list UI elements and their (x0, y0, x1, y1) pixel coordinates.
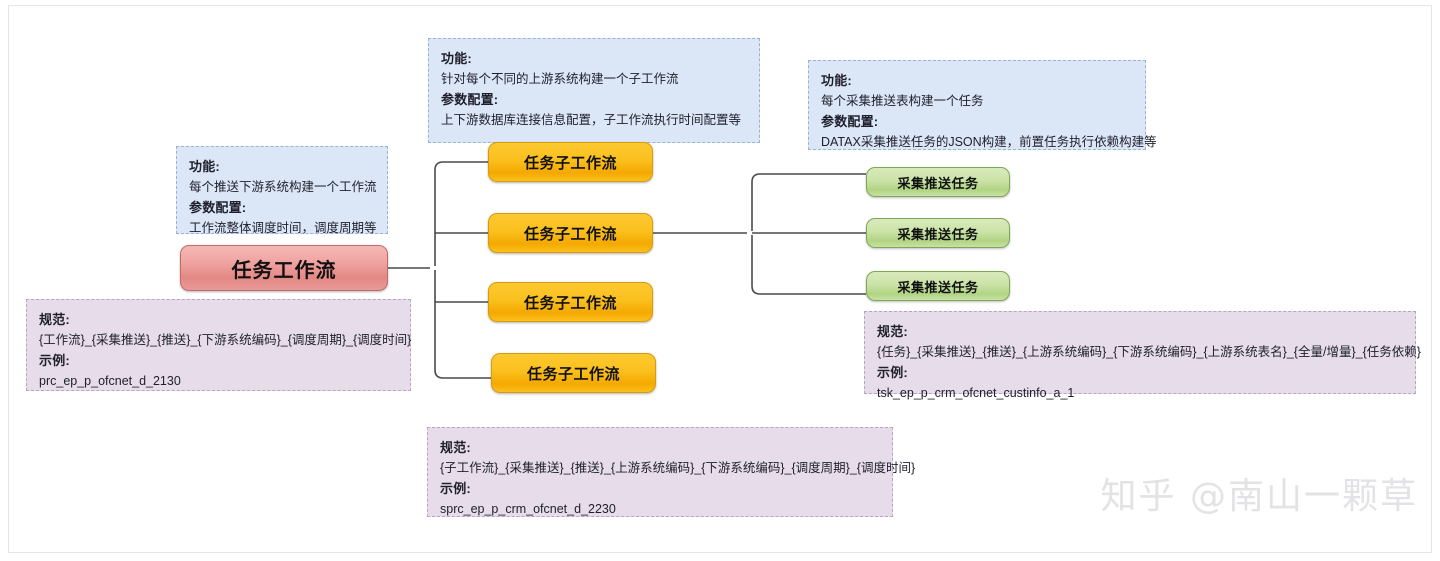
callout-subworkflow-function: 功能: 针对每个不同的上游系统构建一个子工作流 参数配置: 上下游数据库连接信息… (428, 38, 760, 143)
callout-spec-label: 规范: (440, 437, 880, 458)
diagram-canvas: 功能: 针对每个不同的上游系统构建一个子工作流 参数配置: 上下游数据库连接信息… (0, 0, 1440, 561)
node-collect-push-task-3[interactable]: 采集推送任务 (866, 271, 1010, 301)
callout-task-naming: 规范: {任务}_{采集推送}_{推送}_{上游系统编码}_{下游系统编码}_{… (864, 311, 1416, 394)
callout-function-text: 每个推送下游系统构建一个工作流 (189, 177, 375, 197)
node-task-workflow[interactable]: 任务工作流 (180, 245, 388, 291)
callout-example-label: 示例: (877, 362, 1403, 383)
callout-function-label: 功能: (189, 156, 375, 177)
callout-params-text: 工作流整体调度时间，调度周期等 (189, 218, 375, 238)
callout-spec-label: 规范: (877, 321, 1403, 342)
node-label: 任务工作流 (232, 254, 337, 283)
node-sub-workflow-2[interactable]: 任务子工作流 (488, 213, 653, 253)
callout-params-text: DATAX采集推送任务的JSON构建，前置任务执行依赖构建等 (821, 132, 1133, 152)
callout-function-text: 每个采集推送表构建一个任务 (821, 91, 1133, 111)
watermark: 知乎 @南山一颗草 (1101, 467, 1418, 519)
callout-spec-label: 规范: (39, 309, 398, 330)
callout-spec-text: {子工作流}_{采集推送}_{推送}_{上游系统编码}_{下游系统编码}_{调度… (440, 458, 880, 478)
node-collect-push-task-1[interactable]: 采集推送任务 (866, 167, 1010, 197)
node-sub-workflow-3[interactable]: 任务子工作流 (488, 282, 653, 322)
node-label: 任务子工作流 (524, 152, 617, 173)
callout-spec-text: {任务}_{采集推送}_{推送}_{上游系统编码}_{下游系统编码}_{上游系统… (877, 342, 1403, 362)
node-label: 采集推送任务 (897, 224, 978, 243)
node-label: 采集推送任务 (897, 277, 978, 296)
callout-params-label: 参数配置: (189, 197, 375, 218)
callout-example-text: sprc_ep_p_crm_ofcnet_d_2230 (440, 499, 880, 519)
callout-task-function: 功能: 每个采集推送表构建一个任务 参数配置: DATAX采集推送任务的JSON… (808, 60, 1146, 150)
callout-function-text: 针对每个不同的上游系统构建一个子工作流 (441, 69, 747, 89)
callout-function-label: 功能: (441, 48, 747, 69)
callout-params-label: 参数配置: (441, 89, 747, 110)
node-label: 采集推送任务 (897, 173, 978, 192)
callout-workflow-naming: 规范: {工作流}_{采集推送}_{推送}_{下游系统编码}_{调度周期}_{调… (26, 299, 411, 391)
node-label: 任务子工作流 (524, 292, 617, 313)
node-label: 任务子工作流 (524, 223, 617, 244)
node-sub-workflow-1[interactable]: 任务子工作流 (488, 142, 653, 182)
callout-example-label: 示例: (39, 350, 398, 371)
callout-spec-text: {工作流}_{采集推送}_{推送}_{下游系统编码}_{调度周期}_{调度时间} (39, 330, 398, 350)
callout-example-text: prc_ep_p_ofcnet_d_2130 (39, 371, 398, 391)
callout-example-label: 示例: (440, 478, 880, 499)
callout-example-text: tsk_ep_p_crm_ofcnet_custinfo_a_1 (877, 383, 1403, 403)
callout-subworkflow-naming: 规范: {子工作流}_{采集推送}_{推送}_{上游系统编码}_{下游系统编码}… (427, 427, 893, 517)
callout-params-label: 参数配置: (821, 111, 1133, 132)
node-sub-workflow-4[interactable]: 任务子工作流 (491, 353, 656, 393)
callout-params-text: 上下游数据库连接信息配置，子工作流执行时间配置等 (441, 110, 747, 130)
callout-workflow-function: 功能: 每个推送下游系统构建一个工作流 参数配置: 工作流整体调度时间，调度周期… (176, 146, 388, 234)
node-collect-push-task-2[interactable]: 采集推送任务 (866, 218, 1010, 248)
node-label: 任务子工作流 (527, 363, 620, 384)
callout-function-label: 功能: (821, 70, 1133, 91)
